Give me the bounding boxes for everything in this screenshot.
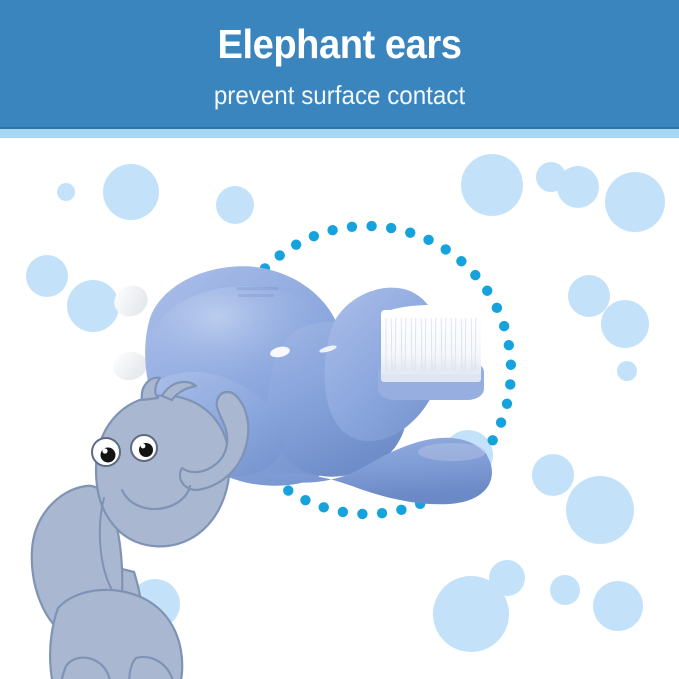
header-banner: Elephant ears prevent surface contact	[0, 0, 679, 127]
mascot-cartoon-elephant	[0, 138, 679, 679]
page-title: Elephant ears	[24, 24, 655, 65]
product-feature-card: Elephant ears prevent surface contact	[0, 0, 679, 679]
header-accent-band	[0, 129, 679, 138]
page-subtitle: prevent surface contact	[24, 82, 655, 108]
product-photo-area	[0, 138, 679, 679]
